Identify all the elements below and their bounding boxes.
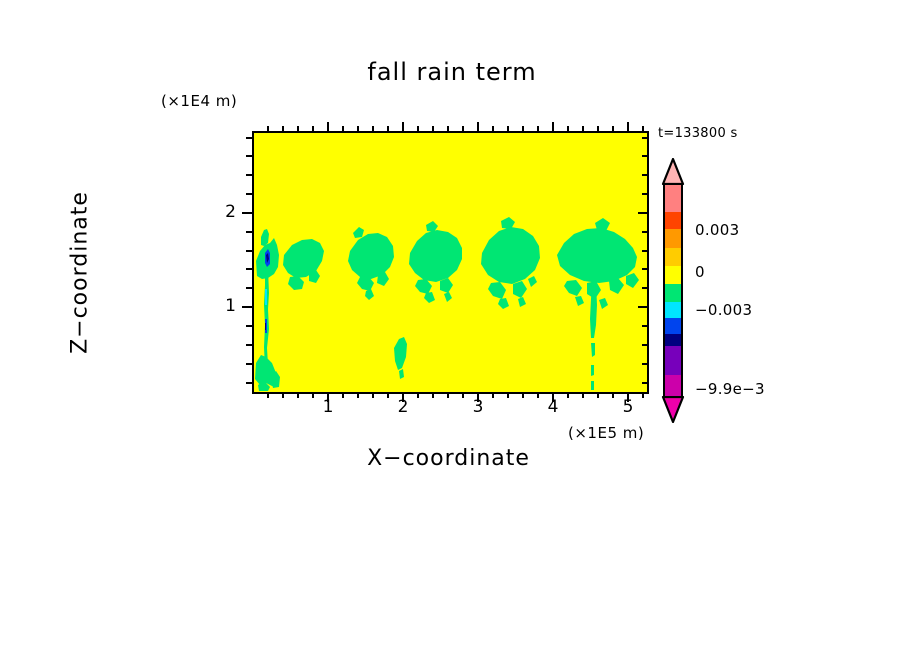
y-tick-minor (246, 174, 252, 176)
y-tick-right-minor (642, 344, 647, 346)
y-tick-minor (246, 155, 252, 157)
colorbar-gradient (663, 183, 683, 398)
x-tick-top-minor (342, 126, 344, 131)
x-tick-minor (432, 392, 434, 398)
x-tick-top-minor (417, 126, 419, 131)
page-title: fall rain term (0, 58, 904, 86)
time-annotation: t=133800 s (658, 126, 738, 141)
x-tick-top-minor (357, 126, 359, 131)
colorbar-tick-label: −0.003 (695, 301, 752, 319)
y-tick-minor (246, 363, 252, 365)
x-tick-minor (507, 392, 509, 398)
y-tick-right-minor (642, 250, 647, 252)
x-tick-top-major (552, 122, 554, 131)
y-tick-major (242, 306, 252, 308)
y-tick-right-minor (642, 268, 647, 270)
y-tick-right-minor (642, 137, 647, 139)
y-tick-minor (246, 231, 252, 233)
x-tick-top-minor (297, 126, 299, 131)
x-tick-top-minor (372, 126, 374, 131)
x-tick-minor (357, 392, 359, 398)
colorbar-band (665, 346, 681, 377)
y-tick-major (242, 212, 252, 214)
x-tick-label: 2 (383, 397, 423, 417)
colorbar-tick-label: 0.003 (695, 221, 739, 239)
x-tick-top-minor (387, 126, 389, 131)
x-tick-top-minor (447, 126, 449, 131)
y-tick-right-major (638, 306, 647, 308)
colorbar: 0.003 0 −0.003 −9.9e−3 (659, 158, 789, 424)
x-tick-minor (297, 392, 299, 398)
x-tick-top-minor (537, 126, 539, 131)
x-tick-top-minor (612, 126, 614, 131)
x-tick-top-minor (522, 126, 524, 131)
y-tick-right-minor (642, 363, 647, 365)
y-tick-minor (246, 344, 252, 346)
y-tick-right-minor (642, 231, 647, 233)
x-tick-minor (582, 392, 584, 398)
x-tick-top-major (402, 122, 404, 131)
y-tick-minor (246, 268, 252, 270)
y-tick-minor (246, 382, 252, 384)
x-tick-top-minor (492, 126, 494, 131)
heatmap-svg (254, 133, 647, 392)
x-tick-top-minor (432, 126, 434, 131)
y-tick-minor (246, 287, 252, 289)
y-tick-right-minor (642, 155, 647, 157)
y-tick-minor (246, 325, 252, 327)
x-tick-minor (372, 392, 374, 398)
y-tick-right-minor (642, 287, 647, 289)
x-tick-minor (282, 392, 284, 398)
x-tick-label: 3 (458, 397, 498, 417)
x-tick-top-minor (282, 126, 284, 131)
y-tick-right-major (638, 212, 647, 214)
x-tick-top-major (477, 122, 479, 131)
x-tick-minor (267, 392, 269, 398)
colorbar-extend-top-icon (659, 158, 687, 185)
figure-canvas: fall rain term (×1E4 m) t=133800 s Z−coo… (0, 0, 904, 654)
x-tick-label: 4 (533, 397, 573, 417)
x-axis-unit-label: (×1E5 m) (568, 424, 644, 442)
y-tick-minor (246, 193, 252, 195)
y-tick-minor (246, 137, 252, 139)
colorbar-extend-bottom-icon (659, 396, 687, 423)
colorbar-band (665, 229, 681, 250)
x-tick-top-minor (267, 126, 269, 131)
y-tick-label: 2 (196, 202, 236, 222)
x-tick-top-minor (582, 126, 584, 131)
x-tick-top-minor (642, 126, 644, 131)
x-tick-minor (522, 392, 524, 398)
x-tick-minor (597, 392, 599, 398)
colorbar-band (665, 248, 681, 268)
y-tick-minor (246, 250, 252, 252)
plot-area (252, 131, 649, 394)
y-axis-unit-label: (×1E4 m) (161, 92, 237, 110)
colorbar-tick-label: −9.9e−3 (695, 380, 765, 398)
x-tick-top-minor (507, 126, 509, 131)
colorbar-band (665, 185, 681, 214)
x-tick-top-minor (462, 126, 464, 131)
y-tick-right-minor (642, 174, 647, 176)
colorbar-tick-label: 0 (695, 263, 705, 281)
y-tick-label: 1 (196, 296, 236, 316)
x-tick-label: 1 (308, 397, 348, 417)
x-tick-top-minor (312, 126, 314, 131)
x-tick-top-minor (597, 126, 599, 131)
x-axis-title: X−coordinate (252, 446, 645, 471)
y-tick-right-minor (642, 193, 647, 195)
x-tick-minor (447, 392, 449, 398)
x-tick-top-major (327, 122, 329, 131)
heatmap-field (254, 133, 647, 392)
colorbar-band (665, 284, 681, 304)
x-tick-top-minor (567, 126, 569, 131)
y-tick-right-minor (642, 382, 647, 384)
y-tick-right-minor (642, 325, 647, 327)
x-tick-top-major (627, 122, 629, 131)
colorbar-band (665, 266, 681, 286)
x-tick-label: 5 (608, 397, 648, 417)
y-axis-title: Z−coordinate (68, 133, 93, 413)
